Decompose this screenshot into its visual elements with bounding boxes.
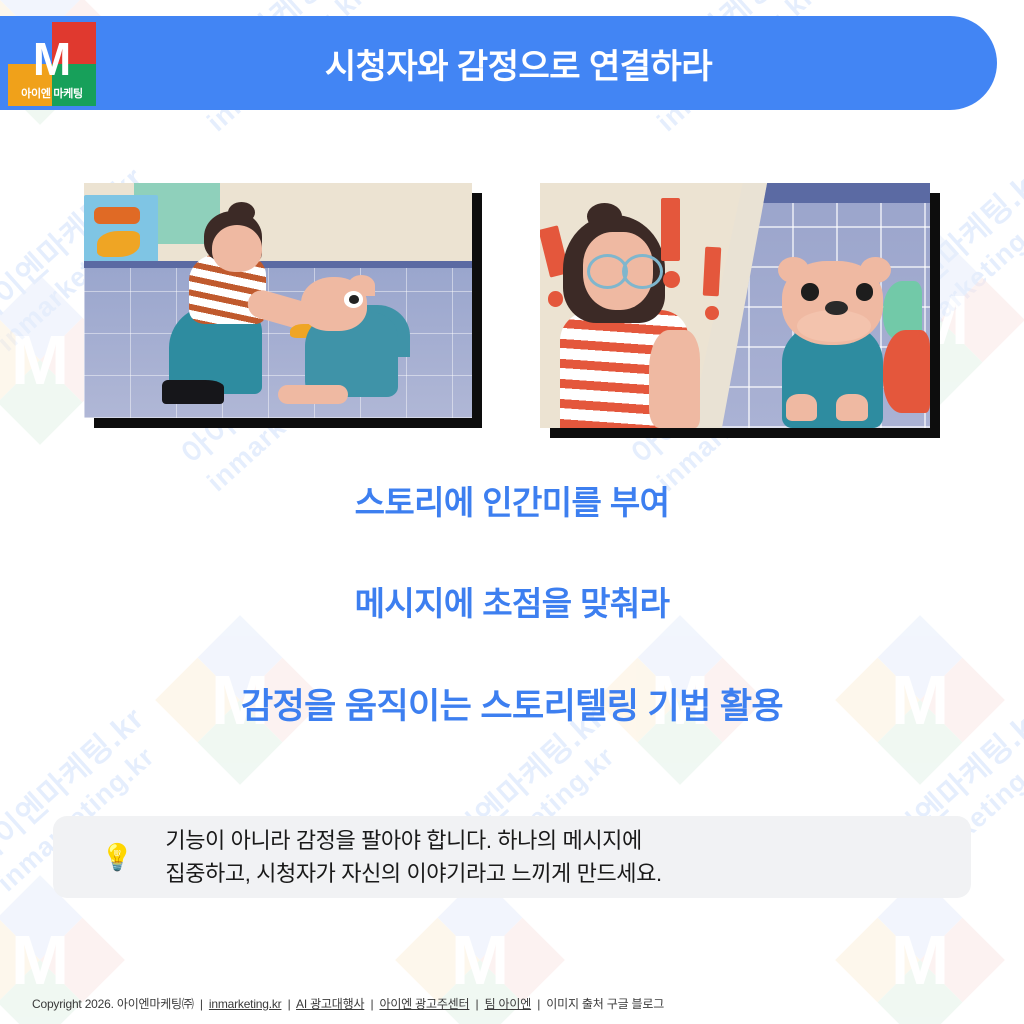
footer-link-site[interactable]: inmarketing.kr bbox=[209, 997, 282, 1011]
exclamation-mark bbox=[703, 246, 721, 296]
page-title: 시청자와 감정으로 연결하라 bbox=[325, 39, 712, 88]
headline-2: 메시지에 초점을 맞춰라 bbox=[0, 583, 1024, 624]
logo-brand-name: 아이엔 마케팅 bbox=[8, 85, 96, 101]
headline-1: 스토리에 인간미를 부여 bbox=[0, 482, 1024, 523]
woman-head bbox=[212, 225, 262, 272]
tip-line-2: 집중하고, 시청자가 자신의 이야기라고 느끼게 만드세요. bbox=[165, 857, 661, 890]
illustration-woman-feeding-dog bbox=[84, 183, 472, 418]
footer-separator: | bbox=[197, 997, 206, 1011]
bulldog-paw bbox=[836, 394, 867, 421]
bulldog-paw bbox=[786, 394, 817, 421]
tip-text: 기능이 아니라 감정을 팔아야 합니다. 하나의 메시지에 집중하고, 시청자가… bbox=[165, 824, 661, 890]
illustrations-row bbox=[0, 175, 1024, 435]
footer-link-advertiser-center[interactable]: 아이엔 광고주센터 bbox=[380, 997, 470, 1011]
tip-line-1: 기능이 아니라 감정을 팔아야 합니다. 하나의 메시지에 bbox=[165, 824, 661, 857]
headline-3: 감정을 움직이는 스토리텔링 기법 활용 bbox=[0, 685, 1024, 729]
exclamation-dot bbox=[705, 306, 719, 321]
footer-link-team[interactable]: 팀 아이엔 bbox=[485, 997, 532, 1011]
woman-hair-bun bbox=[228, 202, 255, 223]
dog-eye bbox=[344, 291, 363, 307]
footer-link-agency[interactable]: AI 광고대행사 bbox=[296, 997, 364, 1011]
woman-shoe bbox=[162, 380, 224, 404]
footer-separator: | bbox=[534, 997, 543, 1011]
exclamation-mark bbox=[661, 198, 681, 262]
footer-separator: | bbox=[285, 997, 294, 1011]
footer-image-source: 이미지 출처 구글 블로그 bbox=[546, 997, 664, 1011]
headline-list: 스토리에 인간미를 부여 메시지에 초점을 맞춰라 감정을 움직이는 스토리텔링… bbox=[0, 482, 1024, 728]
image-frame bbox=[84, 183, 472, 418]
bulldog-ear-right bbox=[860, 257, 891, 284]
bulldog-eye-right bbox=[856, 283, 874, 300]
image-frame bbox=[540, 183, 930, 428]
footer-separator: | bbox=[367, 997, 376, 1011]
slide-root: 아이엔마케팅.kr inmarketing.kr 아이엔마케팅.kr inmar… bbox=[0, 0, 1024, 1024]
lightbulb-icon: 💡 bbox=[101, 844, 133, 870]
header-bar: 시청자와 감정으로 연결하라 bbox=[0, 16, 997, 110]
dog-paws bbox=[278, 385, 348, 404]
brand-logo-icon[interactable]: M 아이엔 마케팅 bbox=[8, 22, 96, 106]
bg-red-shape bbox=[883, 330, 930, 413]
bulldog-ear-left bbox=[778, 257, 809, 284]
footer: Copyright 2026. 아이엔마케팅㈜ | inmarketing.kr… bbox=[32, 995, 664, 1012]
illustration-woman-and-bulldog bbox=[540, 183, 930, 428]
footer-separator: | bbox=[473, 997, 482, 1011]
logo-letter: M bbox=[8, 36, 96, 82]
footer-copyright: Copyright 2026. 아이엔마케팅㈜ bbox=[32, 997, 194, 1011]
bulldog-eye-left bbox=[801, 283, 819, 300]
woman-arm bbox=[649, 330, 700, 428]
woman-hair-bun bbox=[587, 203, 622, 230]
tip-callout-box: 💡 기능이 아니라 감정을 팔아야 합니다. 하나의 메시지에 집중하고, 시청… bbox=[53, 816, 971, 898]
exclamation-dot bbox=[548, 291, 564, 307]
